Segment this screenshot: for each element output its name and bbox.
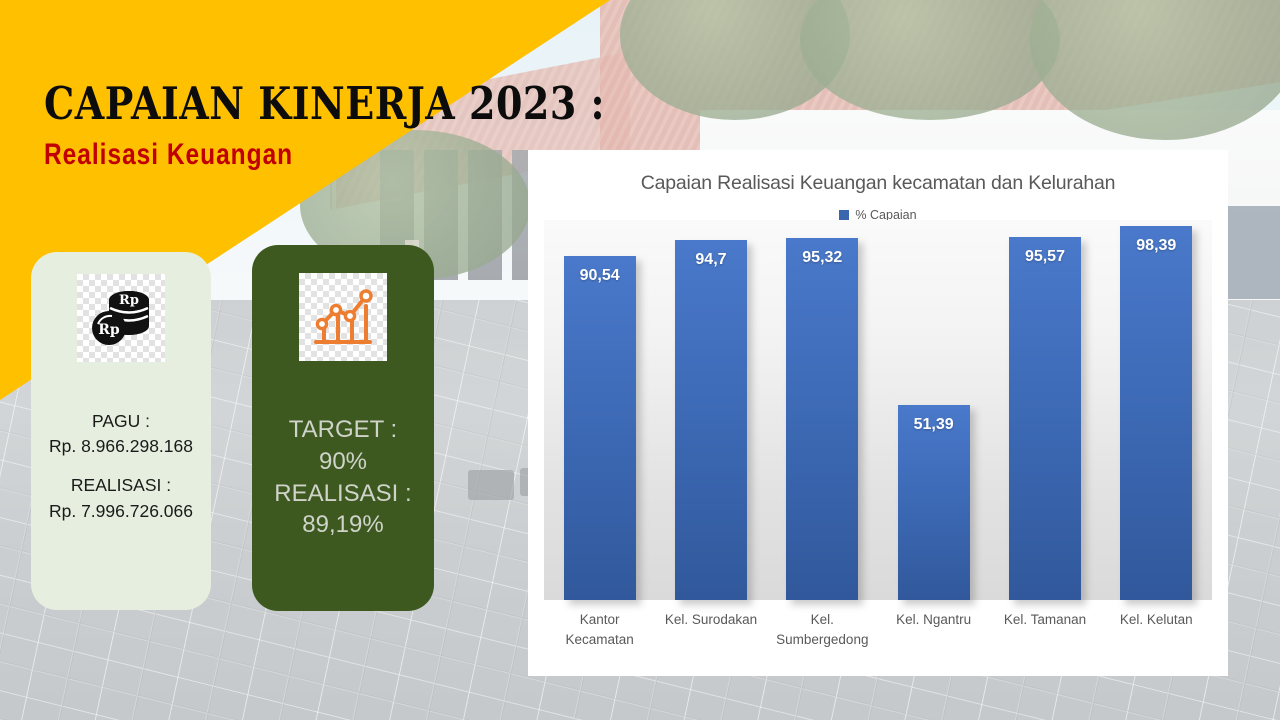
bar-slot: 94,7 bbox=[656, 220, 767, 600]
target-card: TARGET : 90% REALISASI : 89,19% bbox=[252, 245, 434, 611]
bar-slot: 90,54 bbox=[544, 220, 655, 600]
page-subtitle: Realisasi Keuangan bbox=[44, 139, 505, 171]
category-label-0: Kantor Kecamatan bbox=[544, 606, 655, 664]
target-value: 90% bbox=[252, 446, 434, 478]
chart-title: Capaian Realisasi Keuangan kecamatan dan… bbox=[528, 150, 1228, 195]
bar-slot: 51,39 bbox=[878, 220, 989, 600]
bar-slot: 95,57 bbox=[990, 220, 1101, 600]
bar-0[interactable]: 90,54 bbox=[564, 256, 636, 600]
rupiah-coins-icon: Rp Rp bbox=[77, 274, 165, 362]
bar-value-label: 98,39 bbox=[1120, 237, 1192, 255]
pagu-value: Rp. 8.966.298.168 bbox=[31, 434, 211, 459]
bar-group: 90,5494,795,3251,3995,5798,39 bbox=[544, 220, 1212, 600]
bar-slot: 95,32 bbox=[767, 220, 878, 600]
bar-4[interactable]: 95,57 bbox=[1009, 237, 1081, 600]
chart-plot-area: 90,5494,795,3251,3995,5798,39 bbox=[544, 220, 1212, 600]
bar-value-label: 95,32 bbox=[786, 249, 858, 267]
growth-chart-icon bbox=[299, 273, 387, 361]
category-axis: Kantor KecamatanKel. SurodakanKel. Sumbe… bbox=[544, 606, 1212, 664]
page-title: CAPAIAN KINERJA 2023 : bbox=[44, 80, 514, 127]
legend-swatch-capaian bbox=[839, 210, 849, 220]
svg-text:Rp: Rp bbox=[98, 322, 120, 338]
svg-text:Rp: Rp bbox=[119, 293, 139, 308]
category-label-3: Kel. Ngantru bbox=[878, 606, 989, 664]
target-realisasi-value: 89,19% bbox=[252, 509, 434, 541]
bar-value-label: 51,39 bbox=[898, 416, 970, 434]
bar-2[interactable]: 95,32 bbox=[786, 238, 858, 600]
pagu-realisasi-label: REALISASI : bbox=[31, 473, 211, 498]
category-label-5: Kel. Kelutan bbox=[1101, 606, 1212, 664]
pagu-card: Rp Rp PAGU : Rp. 8.966.298.168 REALISASI… bbox=[31, 252, 211, 610]
target-label: TARGET : bbox=[252, 414, 434, 446]
pagu-realisasi-value: Rp. 7.996.726.066 bbox=[31, 499, 211, 524]
bar-1[interactable]: 94,7 bbox=[675, 240, 747, 600]
bar-3[interactable]: 51,39 bbox=[898, 405, 970, 600]
target-realisasi-label: REALISASI : bbox=[252, 478, 434, 510]
category-label-1: Kel. Surodakan bbox=[656, 606, 767, 664]
bar-slot: 98,39 bbox=[1101, 220, 1212, 600]
target-card-text: TARGET : 90% REALISASI : 89,19% bbox=[252, 414, 434, 611]
category-label-2: Kel. Sumbergedong bbox=[767, 606, 878, 664]
pagu-label: PAGU : bbox=[31, 409, 211, 434]
pagu-card-text: PAGU : Rp. 8.966.298.168 REALISASI : Rp.… bbox=[31, 409, 211, 611]
category-label-4: Kel. Tamanan bbox=[990, 606, 1101, 664]
chart-panel: Capaian Realisasi Keuangan kecamatan dan… bbox=[528, 150, 1228, 676]
title-block: CAPAIAN KINERJA 2023 : Realisasi Keuanga… bbox=[44, 80, 514, 166]
bar-value-label: 90,54 bbox=[564, 267, 636, 285]
bar-5[interactable]: 98,39 bbox=[1120, 226, 1192, 600]
bar-value-label: 94,7 bbox=[675, 251, 747, 269]
bar-value-label: 95,57 bbox=[1009, 248, 1081, 266]
